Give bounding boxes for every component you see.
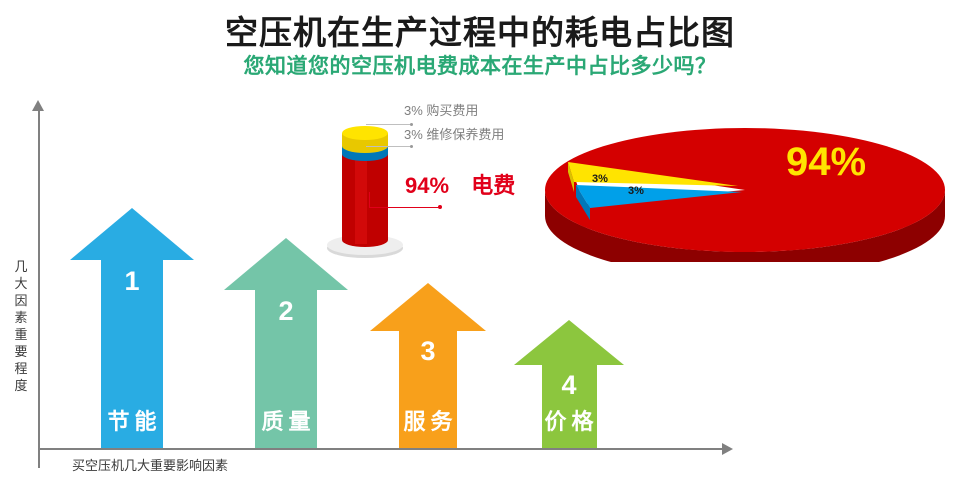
bar-1-energy-saving: 1 节能 (70, 208, 194, 448)
bar-1-label: 节能 (70, 404, 194, 436)
callout-maintenance: 3% 维修保养费用 (404, 124, 504, 143)
callout-leader-3 (370, 207, 440, 208)
bar-3-arrowhead-icon (370, 283, 486, 331)
callout-dot-2 (410, 145, 413, 148)
callout-purchase: 3% 购买费用 (404, 100, 478, 119)
pie-chart-3d (540, 112, 950, 262)
y-axis-line (38, 108, 40, 468)
x-axis-arrow-icon (722, 443, 733, 455)
bar-4-rank: 4 (514, 370, 624, 401)
page-subtitle: 您知道您的空压机电费成本在生产中占比多少吗？ (0, 50, 960, 80)
bar-2-rank: 2 (224, 296, 348, 327)
bar-2-quality: 2 质量 (224, 238, 348, 448)
cylinder-highlight (355, 154, 367, 244)
bar-4-arrowhead-icon (514, 320, 624, 365)
x-axis-label: 买空压机几大重要影响因素 (72, 455, 228, 474)
callout-leader-2 (366, 146, 410, 147)
callout-electricity-label: 电费 (471, 173, 515, 198)
callout-purchase-pct: 3% (404, 103, 423, 118)
pie-center-label: 94% (786, 140, 866, 185)
y-axis-arrow-icon (32, 100, 44, 111)
bar-3-label: 服务 (370, 404, 486, 436)
bar-3-rank: 3 (370, 336, 486, 367)
bar-1-rank: 1 (70, 266, 194, 297)
y-axis-label: 几大因素重要程度 (10, 258, 32, 394)
bar-3-service: 3 服务 (370, 283, 486, 448)
callout-purchase-label: 购买费用 (426, 103, 478, 118)
pie-slice-label-purchase: 3% (592, 173, 608, 185)
bar-1-arrowhead-icon (70, 208, 194, 260)
callout-maintenance-label: 维修保养费用 (426, 127, 504, 142)
bar-2-label: 质量 (224, 404, 348, 436)
infographic-canvas: 空压机在生产过程中的耗电占比图 您知道您的空压机电费成本在生产中占比多少吗？ 几… (0, 0, 960, 483)
callout-maintenance-pct: 3% (404, 127, 423, 142)
x-axis-line (38, 448, 728, 450)
pie-slice-label-maintenance: 3% (628, 185, 644, 197)
callout-leader-3b (369, 192, 370, 208)
callout-dot-3 (438, 205, 442, 209)
page-title: 空压机在生产过程中的耗电占比图 (0, 6, 960, 54)
bar-4-label: 价格 (514, 404, 624, 436)
cylinder-yellow-top (342, 126, 388, 140)
bar-4-price: 4 价格 (514, 320, 624, 448)
callout-electricity: 94% 电费 (405, 168, 515, 200)
callout-electricity-pct: 94% (405, 173, 449, 198)
